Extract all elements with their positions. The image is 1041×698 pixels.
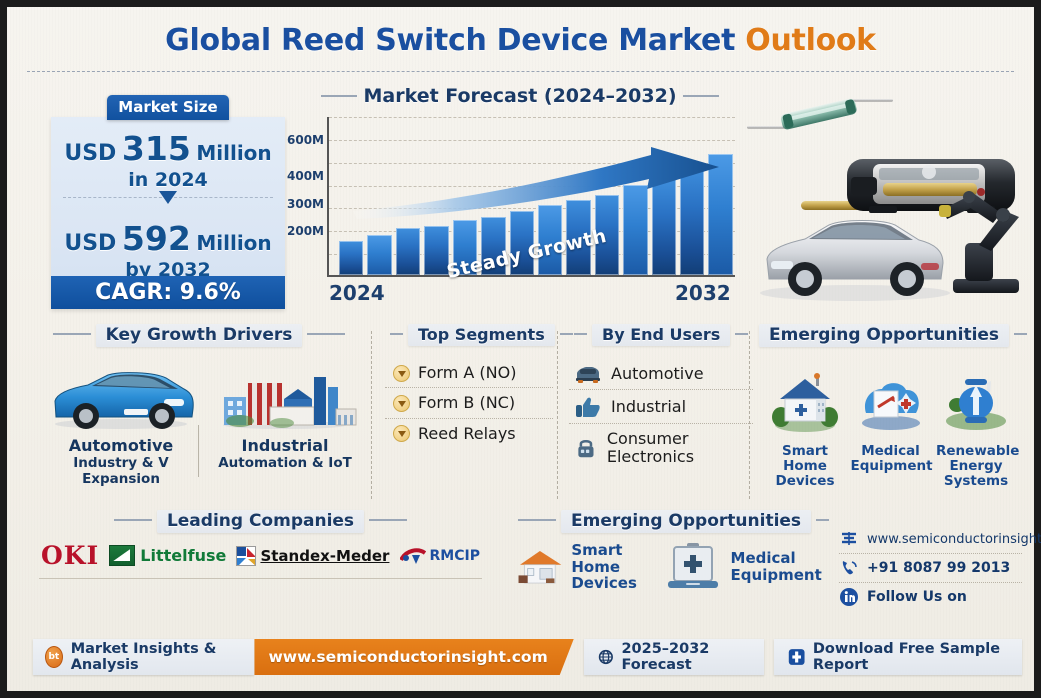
opportunity-label: Medical Equipment: [731, 550, 822, 584]
market-size-tab: Market Size: [107, 95, 229, 120]
list-item[interactable]: Form A (NO): [385, 358, 553, 388]
lock-appliance-icon: [575, 436, 597, 460]
heading-rule-left: [390, 333, 403, 335]
end-user-label: Automotive: [611, 365, 704, 383]
heading-rule-left: [114, 519, 152, 521]
heading-rule-left: [53, 333, 91, 335]
company-logo-rmcip[interactable]: RMCIP: [400, 546, 480, 566]
current-usd-label: USD: [64, 141, 116, 166]
opportunity-medical[interactable]: Medical Equipment: [851, 373, 931, 489]
download-label: Download Free Sample Report: [813, 641, 1008, 673]
car-icon: [575, 364, 601, 384]
driver-item-automotive: Automotive Industry & V Expansion: [41, 369, 201, 487]
chevron-down-icon: [393, 365, 410, 382]
wind-turbine-icon: [943, 373, 1009, 433]
chart-bar: [396, 228, 420, 275]
market-size-current: USD 315 Million: [51, 129, 285, 168]
leading-companies-section: Leading Companies OKI Littelfuse: [33, 511, 488, 579]
current-unit: Million: [196, 141, 271, 165]
chart-bar: [339, 241, 363, 275]
opportunity-renewable[interactable]: Renewable Energy Systems: [936, 373, 1016, 489]
opportunity-smart-home[interactable]: Smart Home Devices: [765, 373, 845, 489]
globe-icon: [839, 529, 859, 549]
driver-name: Automotive: [41, 436, 201, 455]
end-user-label: Consumer Electronics: [607, 430, 753, 467]
plus-square-icon: [788, 646, 805, 668]
top-segments-section: Top Segments Form A (NO) Form B (NC) Ree…: [385, 325, 553, 448]
emerging-opportunities-bottom-heading: Emerging Opportunities: [513, 511, 823, 531]
forecast-button[interactable]: 2025–2032 Forecast: [584, 639, 764, 675]
key-growth-drivers-section: Key Growth Drivers Automoti: [33, 325, 365, 503]
cagr-badge: CAGR: 9.6%: [51, 276, 285, 309]
opportunity-label: Renewable Energy Systems: [936, 444, 1016, 489]
phone-text: +91 8087 99 2013: [867, 560, 1010, 576]
y-axis-tick: 600M: [287, 133, 324, 147]
page-title: Global Reed Switch Device Market Outlook: [7, 23, 1034, 58]
heading-rule-right: [816, 519, 829, 521]
chart-title-rule-right: [683, 95, 719, 97]
heading-rule-left: [574, 333, 587, 335]
column-divider-1: [371, 331, 372, 499]
company-name: Littelfuse: [140, 546, 226, 565]
bottom-sections: Leading Companies OKI Littelfuse: [33, 511, 1022, 619]
mid-sections: Key Growth Drivers Automoti: [33, 325, 1022, 503]
label-line-1: Medical: [731, 550, 822, 567]
opportunity-medical-bottom[interactable]: Medical Equipment: [662, 539, 822, 595]
heading-rule-right: [1014, 333, 1027, 335]
future-value: 592: [122, 219, 191, 258]
list-item[interactable]: Industrial: [569, 390, 753, 424]
contact-follow[interactable]: Follow Us on: [839, 583, 1022, 611]
heading-rule-right: [735, 333, 748, 335]
future-unit: Million: [196, 231, 271, 255]
label-line-1: Smart Home: [571, 542, 651, 576]
heading-rule-left: [518, 519, 556, 521]
heading-rule-right: [307, 333, 345, 335]
medical-laptop-icon: [662, 539, 724, 595]
chart-title-text: Market Forecast (2024–2032): [363, 85, 676, 107]
company-name: Standex-Meder: [260, 547, 389, 565]
market-forecast-chart: Market Forecast (2024–2032) 600M400M300M…: [303, 85, 737, 313]
y-axis-tick: 200M: [287, 224, 324, 238]
by-end-users-list: Automotive Industrial: [569, 358, 753, 472]
chevron-down-icon: [393, 425, 410, 442]
label-line-2: Equipment: [731, 567, 822, 584]
website-text: www.semiconductorinsight.com: [867, 532, 1041, 547]
company-logo-oki[interactable]: OKI: [41, 541, 99, 570]
market-size-future: USD 592 Million: [51, 219, 285, 258]
end-user-label: Industrial: [611, 398, 686, 416]
social-icon: [839, 587, 859, 607]
brand-badge-icon: bt: [45, 646, 63, 668]
segment-label: Form B (NC): [418, 394, 515, 412]
chart-bar: [708, 154, 732, 275]
company-logos: OKI Littelfuse St: [33, 531, 488, 570]
follow-text: Follow Us on: [867, 589, 967, 605]
medical-chart-icon: [858, 373, 924, 433]
chart-title-rule-left: [321, 95, 357, 97]
contact-website[interactable]: www.semiconductorinsight.com: [839, 525, 1022, 554]
list-item[interactable]: Automotive: [569, 358, 753, 390]
download-button[interactable]: Download Free Sample Report: [774, 639, 1022, 675]
y-axis-tick: 300M: [287, 197, 324, 211]
current-year: in 2024: [51, 169, 285, 191]
factory-icon: [210, 369, 360, 431]
company-logo-standex-meder[interactable]: Standex-Meder: [236, 546, 389, 566]
phone-icon: [839, 558, 859, 578]
segment-label: Reed Relays: [418, 425, 516, 443]
chart-bar: [623, 185, 647, 275]
page-title-accent: Outlook: [745, 23, 876, 58]
thumbs-up-icon: [575, 396, 601, 418]
standex-mark-icon: [236, 546, 256, 566]
driver-desc: Industry & V Expansion: [41, 455, 201, 487]
chart-x-label-start: 2024: [329, 281, 385, 305]
blue-car-icon: [46, 369, 196, 431]
driver-desc: Automation & IoT: [205, 455, 365, 471]
leading-companies-underline: [39, 578, 482, 579]
top-segments-list: Form A (NO) Form B (NC) Reed Relays: [385, 358, 553, 448]
rmcip-mark-icon: [400, 546, 426, 566]
house-icon: [517, 540, 564, 594]
opportunity-label: Smart Home Devices: [571, 542, 651, 592]
globe-icon: [598, 647, 614, 667]
footer-url[interactable]: www.semiconductorinsight.com: [254, 639, 573, 675]
future-usd-label: USD: [64, 231, 116, 256]
down-arrow-icon: [159, 191, 177, 204]
opportunity-label: Medical Equipment: [851, 444, 931, 474]
label-line-2: Devices: [571, 575, 651, 592]
title-divider: [27, 71, 1014, 72]
heading-rule-right: [369, 519, 407, 521]
littelfuse-mark-icon: [109, 545, 135, 566]
company-name: RMCIP: [430, 548, 480, 564]
opportunity-smart-home-bottom[interactable]: Smart Home Devices: [517, 539, 652, 595]
list-item[interactable]: Form B (NC): [385, 388, 553, 418]
chart-bar: [680, 165, 704, 275]
by-end-users-heading: By End Users: [569, 325, 753, 344]
list-item[interactable]: Reed Relays: [385, 419, 553, 448]
opportunity-label: Smart Home Devices: [765, 444, 845, 489]
reed-switch-small-icon: [747, 98, 893, 131]
contact-block: www.semiconductorinsight.com +91 8087 99…: [839, 525, 1022, 611]
chart-plot-area: 600M400M300M200M Steady Growth: [327, 117, 735, 277]
list-item[interactable]: Consumer Electronics: [569, 424, 753, 472]
current-value: 315: [122, 129, 191, 168]
chart-bar: [367, 235, 391, 275]
segment-label: Form A (NO): [418, 364, 516, 382]
emerging-opportunities-bottom-section: Emerging Opportunities Smart Home Device…: [513, 511, 823, 595]
chart-bar: [652, 178, 676, 275]
emerging-opportunities-heading: Emerging Opportunities: [759, 325, 1022, 345]
market-size-card: USD 315 Million in 2024 USD 592 Million …: [51, 117, 285, 309]
infographic-poster: Global Reed Switch Device Market Outlook…: [0, 0, 1041, 698]
opportunities-row-bottom: Smart Home Devices Medical: [513, 531, 823, 595]
brand-label: Market Insights & Analysis: [71, 641, 243, 673]
footer-bar: bt Market Insights & Analysis www.semico…: [33, 639, 1022, 675]
by-end-users-section: By End Users Automotive: [569, 325, 753, 472]
forecast-label: 2025–2032 Forecast: [621, 641, 749, 673]
leading-companies-heading: Leading Companies: [33, 511, 488, 531]
driver-item-industrial: Industrial Automation & IoT: [205, 369, 365, 471]
chevron-down-icon: [393, 395, 410, 412]
key-growth-drivers-heading: Key Growth Drivers: [33, 325, 365, 345]
contact-phone[interactable]: +91 8087 99 2013: [839, 554, 1022, 583]
column-divider-2: [557, 331, 558, 499]
footer-brand: bt Market Insights & Analysis: [33, 639, 254, 675]
page-title-main: Global Reed Switch Device Market: [165, 23, 745, 58]
emerging-opportunities-mid-section: Emerging Opportunities: [759, 325, 1022, 489]
company-logo-littelfuse[interactable]: Littelfuse: [109, 545, 226, 566]
y-axis-tick: 400M: [287, 169, 324, 183]
chart-title: Market Forecast (2024–2032): [303, 85, 737, 107]
opportunities-row: Smart Home Devices Medical Equipment: [759, 373, 1022, 489]
top-segments-heading: Top Segments: [385, 325, 553, 344]
silver-car-photo: [760, 221, 950, 302]
product-imagery: [743, 93, 1027, 313]
chart-x-label-end: 2032: [675, 281, 731, 305]
driver-name: Industrial: [205, 436, 365, 455]
house-medical-icon: [772, 373, 838, 433]
